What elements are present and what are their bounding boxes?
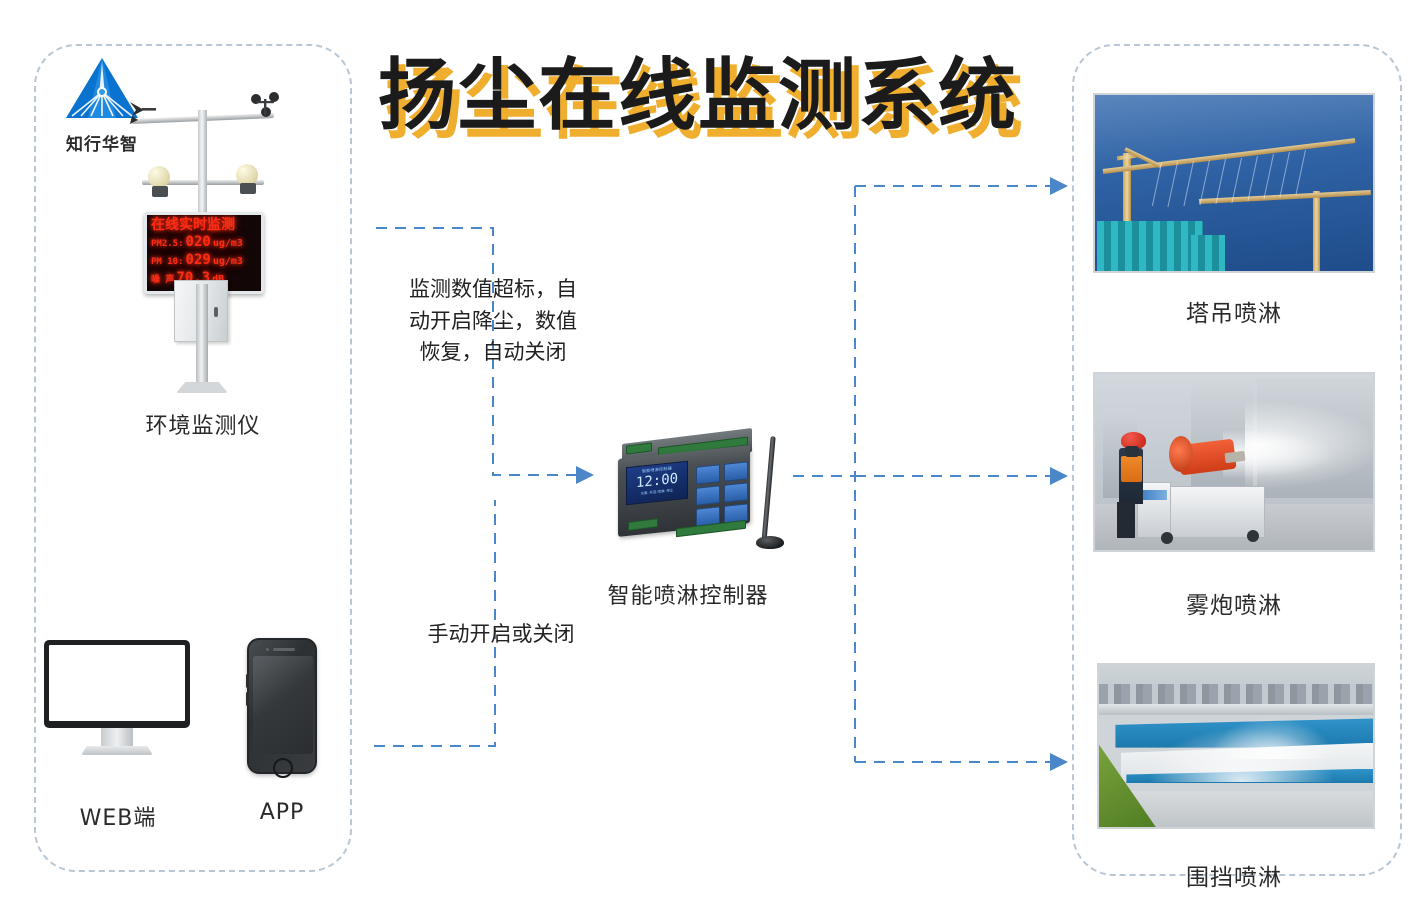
caption-spray-controller: 智能喷淋控制器 [568,578,808,610]
phone-home-button-icon [273,758,293,778]
diagram-canvas: 知行华智 在线实时监测 PM2.5: 020 ug/m3 [0,0,1425,903]
fence-scene [1099,665,1373,827]
fence-mist-2 [1209,717,1335,759]
desktop-monitor-icon [44,640,190,758]
caption-web-client: WEB端 [40,800,196,832]
phone-volume-down-button [246,692,249,706]
scaffolding-block-2 [1191,235,1225,271]
monitor-screen [44,640,190,728]
led-row-pm10: PM 10: 029 ug/m3 [151,253,257,267]
crane-spray-group [1155,159,1327,213]
station-base-plate [176,382,228,393]
phone-volume-up-button [246,674,249,688]
led-row-pm25: PM2.5: 020 ug/m3 [151,235,257,249]
led-unit-pm10: ug/m3 [213,257,243,267]
worker-head [1125,446,1139,457]
cart-wheel-right [1247,530,1259,542]
fog-cannon-spray-photo [1093,372,1375,552]
phone-screen [253,656,313,754]
led-unit-pm25: ug/m3 [213,239,243,249]
sensor-base-left [152,186,168,197]
flow-label-auto-line1: 监测数值超标，自 [380,274,606,306]
controller-key-2[interactable] [724,461,748,482]
antenna-icon [761,436,775,544]
cart-wheel-left [1161,532,1173,544]
caption-fence-spray: 围挡喷淋 [1093,858,1375,892]
crane-scene [1095,95,1373,271]
flow-label-manual: 手动开启或关闭 [392,618,610,648]
fog-cannon-mouth [1169,436,1193,472]
enclosure-lock-icon [214,307,218,317]
flow-label-auto: 监测数值超标，自 动开启降尘，数值 恢复，自动关闭 [380,274,606,369]
phone-speaker-icon [273,648,295,651]
caption-tower-crane-spray: 塔吊喷淋 [1093,294,1375,328]
antenna-magnetic-base [756,536,784,549]
spray-controller-icon: 智能喷淋控制器 12:00 水泵: 开启 喷淋: 停止 [596,424,792,554]
smartphone-icon [247,638,317,774]
sensor-head-left-icon [148,166,170,188]
weather-station-icon: 在线实时监测 PM2.5: 020 ug/m3 PM 10: 029 ug/m3… [118,52,288,392]
flow-label-auto-line2: 动开启降尘，数值 [380,306,606,338]
caption-app-client: APP [212,800,352,825]
flow-label-auto-line3: 恢复，自动关闭 [380,337,606,369]
page-title: 扬尘在线监测系统 [378,56,1058,138]
controller-key-1[interactable] [696,464,720,485]
caption-environment-monitor: 环境监测仪 [98,408,308,440]
connector-controller-trunk [793,186,1064,762]
scaffolding-block-1 [1097,221,1203,271]
monitor-stand-neck [101,728,133,746]
control-box-display [1141,490,1167,500]
led-header: 在线实时监测 [151,218,257,232]
fence-far-buildings [1099,684,1373,703]
fence-spray-photo [1097,663,1375,829]
phone-camera-icon [266,648,269,651]
worker-legs [1117,502,1135,538]
controller-key-3[interactable] [696,485,720,506]
caption-fog-cannon-spray: 雾炮喷淋 [1093,586,1375,620]
fog-cannon-scene [1095,374,1373,550]
led-label-pm10: PM 10: [151,258,184,267]
station-pole-lower [196,284,208,392]
led-value-pm25: 020 [186,235,211,249]
sensor-base-right [240,183,256,194]
controller-lcd-screen: 智能喷淋控制器 12:00 水泵: 开启 喷淋: 停止 [626,461,688,506]
anemometer-icon [248,92,282,122]
wind-vane-icon [128,98,158,126]
led-label-pm25: PM2.5: [151,240,184,249]
led-value-pm10: 029 [186,253,211,267]
tower-crane-spray-photo [1093,93,1375,273]
led-label-noise: 噪 声 [151,276,174,285]
worker-safety-vest [1121,456,1142,482]
fence-mid-structures [1099,704,1373,715]
controller-keypad[interactable] [696,461,748,526]
controller-key-4[interactable] [724,482,748,503]
monitor-stand-foot [81,746,153,755]
